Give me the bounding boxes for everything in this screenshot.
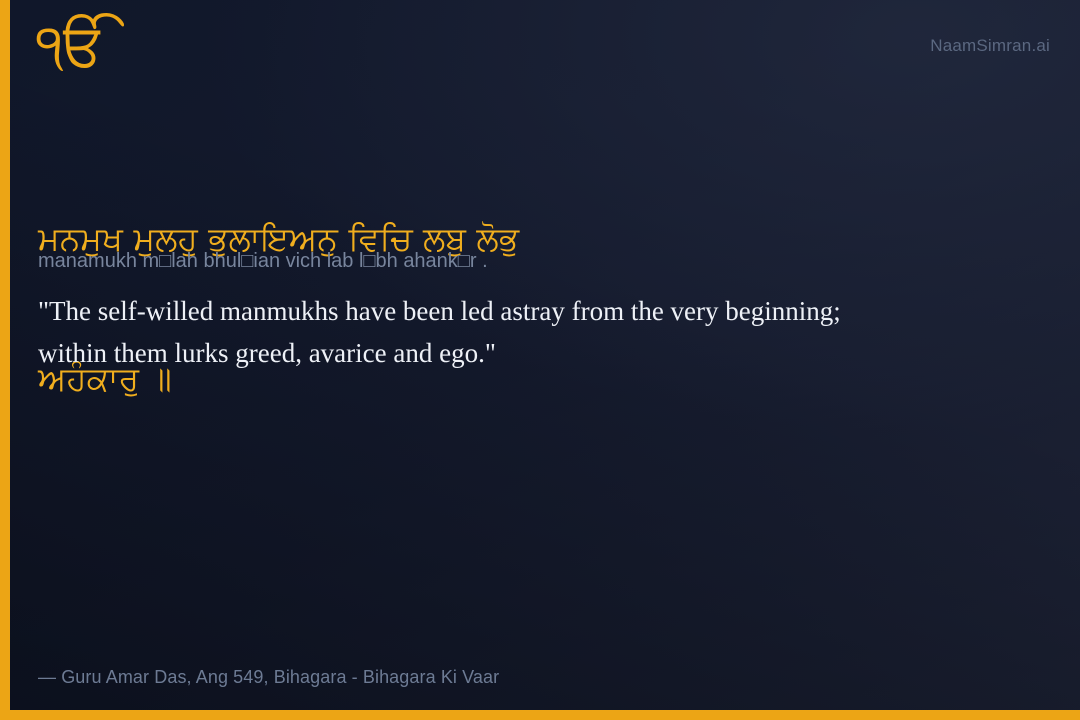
ik-onkar-icon: ੴ <box>36 16 107 74</box>
card-content: NaamSimran.ai ੴ ਮਨਮੁਖ ਮੁਲਹੁ ਭੁਲਾਇਅਨੁ ਵਿਚ… <box>0 0 1080 720</box>
transliteration-text: manamukh m□lah bhul□ian vich lab l□bh ah… <box>38 248 938 275</box>
accent-bar-left <box>0 0 10 720</box>
accent-bar-bottom <box>0 710 1080 720</box>
brand-watermark: NaamSimran.ai <box>930 36 1050 56</box>
attribution-line: — Guru Amar Das, Ang 549, Bihagara - Bih… <box>38 667 499 688</box>
translation-text: "The self-willed manmukhs have been led … <box>38 291 853 375</box>
scripture-quote-card: NaamSimran.ai ੴ ਮਨਮੁਖ ਮੁਲਹੁ ਭੁਲਾਇਅਨੁ ਵਿਚ… <box>0 0 1080 720</box>
